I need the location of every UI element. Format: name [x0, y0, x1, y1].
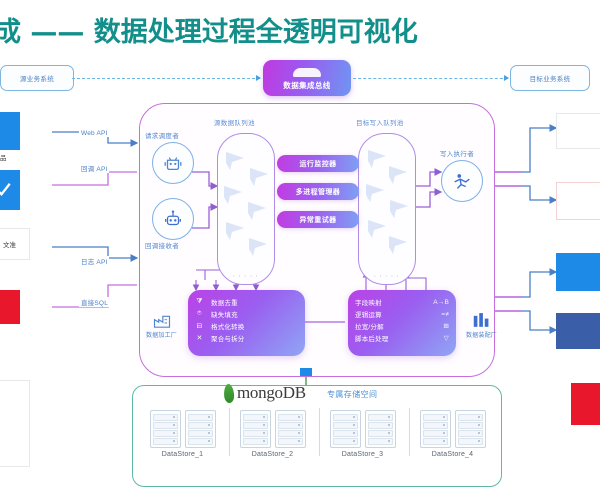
server-rack-icon	[365, 410, 396, 448]
write-executor-agent[interactable]	[441, 160, 483, 202]
proc-row-label: 格式化转换	[211, 321, 298, 331]
target-blue-3[interactable]	[556, 253, 600, 291]
proc-row-label: 字段映射	[355, 297, 426, 307]
rack-group	[330, 410, 396, 448]
target-business-system[interactable]: 目标业务系统	[510, 65, 590, 91]
callback-receiver-agent[interactable]	[152, 198, 194, 240]
fill-icon: ⌾	[195, 310, 204, 319]
queue-planes-icon-2	[359, 134, 415, 284]
target-box-pink-2[interactable]	[556, 182, 600, 220]
datastore-2[interactable]: DataStore_2	[231, 410, 314, 458]
filter-icon: ⧩	[195, 298, 204, 307]
proc-row: 脚本后处理 ▽	[355, 332, 449, 344]
datastore-2-label: DataStore_2	[252, 451, 294, 458]
writer-robot-icon	[451, 170, 473, 192]
mongodb-brand: mongoDB	[224, 383, 306, 403]
proc-row: 拉宽/分解 ⊞	[355, 320, 449, 332]
proc-row-tail: ▽	[444, 334, 449, 342]
field-mapping-box[interactable]: 字段映射 A→B 逻辑运算 =≠ 拉宽/分解 ⊞ 脚本后处理 ▽	[348, 290, 456, 356]
label-callback-api: 回调 API	[79, 163, 109, 173]
source-app-blue-bottom[interactable]	[0, 170, 20, 210]
proc-row-label: 缺失填充	[211, 309, 298, 319]
datastore-separator	[229, 408, 230, 456]
agent-label-callback-receiver: 回调接收者	[145, 240, 179, 250]
write-executor-label: 写入执行者	[440, 148, 474, 158]
pill-runtime-monitor[interactable]: 运行监控器	[277, 155, 359, 172]
split-icon: ✕	[195, 334, 204, 343]
rack-group	[150, 410, 216, 448]
server-rack-icon	[240, 410, 271, 448]
server-rack-icon	[455, 410, 486, 448]
datastore-separator	[319, 408, 320, 456]
proc-row-tail: =≠	[441, 311, 449, 318]
data-integration-bus[interactable]: 数据集成总线	[263, 60, 351, 96]
request-scheduler-agent[interactable]	[152, 142, 194, 184]
server-rack-icon	[150, 410, 181, 448]
target-darkblue-4[interactable]	[556, 313, 600, 349]
check-icon	[0, 180, 12, 198]
bus-arrow-right	[504, 75, 509, 81]
rack-group	[420, 410, 486, 448]
pill-exception-retry[interactable]: 异常重试器	[277, 211, 359, 228]
bus-label: 数据集成总线	[283, 80, 330, 91]
proc-row-label: 拉宽/分解	[355, 321, 436, 331]
proc-row: ✕ 聚合与拆分	[195, 332, 298, 344]
label-log-api: 日志 API	[79, 256, 109, 266]
data-assembly-caption: 数据装配厂	[466, 330, 497, 339]
server-rack-icon	[185, 410, 216, 448]
android-robot-icon	[162, 152, 184, 174]
proc-row-tail: A→B	[433, 299, 449, 306]
datastore-1[interactable]: DataStore_1	[141, 410, 224, 458]
proc-row-label: 逻辑运算	[355, 309, 434, 319]
storage-space-label: 专属存储空间	[327, 389, 377, 400]
server-rack-icon	[420, 410, 451, 448]
rack-group	[240, 410, 306, 448]
datastore-separator	[409, 408, 410, 456]
proc-row: 逻辑运算 =≠	[355, 308, 449, 320]
source-red-block[interactable]	[0, 290, 20, 324]
source-queue-pool-label: 源数据队列池	[214, 117, 255, 127]
datastore-1-label: DataStore_1	[162, 451, 204, 458]
target-box-white-1[interactable]	[556, 113, 600, 149]
page-title: 成 —— 数据处理过程全透明可视化	[0, 10, 418, 49]
target-red-5[interactable]	[571, 383, 600, 425]
proc-row-label: 脚本后处理	[355, 333, 437, 343]
source-doc-white[interactable]: 文准	[0, 228, 30, 260]
mongodb-leaf-icon	[223, 383, 234, 403]
target-queue-pool-label: 目标写入队列池	[356, 117, 404, 127]
datastore-4[interactable]: DataStore_4	[411, 410, 494, 458]
source-app-blue-top-caption: 品	[0, 152, 7, 162]
agent-label-request-scheduler: 请求调度者	[145, 130, 179, 140]
datastore-3-label: DataStore_3	[342, 451, 384, 458]
source-bottom-panel[interactable]	[0, 380, 30, 467]
pill-multiprocess-manager[interactable]: 多进程管理器	[277, 183, 359, 200]
robot-icon	[162, 208, 184, 230]
proc-row: ⧩ 数据去重	[195, 296, 298, 308]
cloud-icon	[293, 68, 321, 77]
data-cleaning-box[interactable]: ⧩ 数据去重 ⌾ 缺失填充 ⊟ 格式化转换 ✕ 聚合与拆分	[188, 290, 305, 356]
server-rack-icon	[330, 410, 361, 448]
label-direct-sql: 直接SQL	[79, 297, 110, 307]
bus-dashed-line-right	[353, 78, 508, 79]
assembly-icon	[471, 310, 493, 329]
server-rack-icon	[275, 410, 306, 448]
source-queue-pool[interactable]: • • • • •	[217, 133, 275, 285]
datastore-4-label: DataStore_4	[432, 451, 474, 458]
diagram-canvas: 成 —— 数据处理过程全透明可视化 源业务系统 数据集成总线 目标业务系统	[0, 0, 600, 500]
factory-icon	[152, 312, 172, 329]
target-queue-pool[interactable]: • • • • •	[358, 133, 416, 285]
source-app-blue-top[interactable]: e	[0, 112, 20, 150]
proc-row-label: 聚合与拆分	[211, 333, 298, 343]
data-assembly: 数据装配厂	[466, 310, 497, 339]
proc-row-label: 数据去重	[211, 297, 298, 307]
proc-row-tail: ⊞	[443, 322, 449, 330]
datastore-3[interactable]: DataStore_3	[321, 410, 404, 458]
mongodb-brand-label: mongoDB	[237, 383, 306, 403]
source-business-system[interactable]: 源业务系统	[0, 65, 74, 91]
proc-row: ⌾ 缺失填充	[195, 308, 298, 320]
source-queue-dots: • • • • •	[218, 273, 274, 278]
source-doc-white-label: 文准	[3, 239, 16, 249]
format-icon: ⊟	[195, 322, 204, 331]
target-queue-dots: • • • • •	[359, 273, 415, 278]
source-business-system-label: 源业务系统	[20, 73, 54, 83]
bus-dashed-line-left	[72, 78, 260, 79]
proc-row: 字段映射 A→B	[355, 296, 449, 308]
queue-planes-icon	[218, 134, 274, 284]
target-business-system-label: 目标业务系统	[530, 73, 571, 83]
label-web-api: Web API	[79, 130, 110, 137]
bus-arrow-left	[256, 75, 261, 81]
data-factory: 数据加工厂	[146, 312, 177, 339]
proc-row: ⊟ 格式化转换	[195, 320, 298, 332]
data-factory-caption: 数据加工厂	[146, 330, 177, 339]
